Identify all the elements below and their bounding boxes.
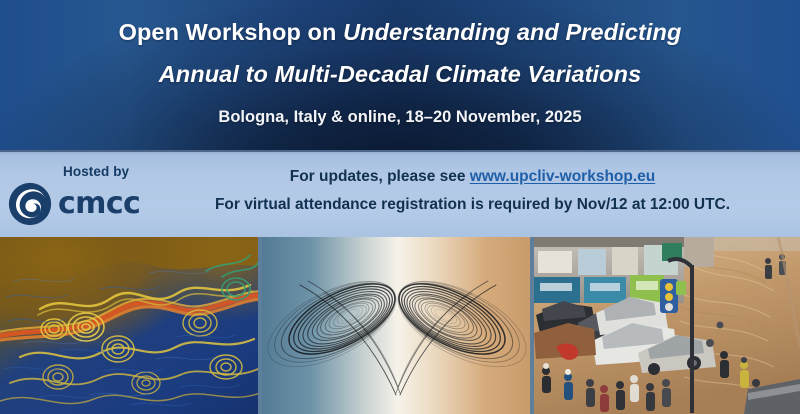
workshop-title-line-2: Annual to Multi-Decadal Climate Variatio… <box>0 62 800 86</box>
ocean-eddies-graphic <box>0 237 262 414</box>
cmcc-logo[interactable]: cmcc <box>8 182 140 226</box>
workshop-location-dates: Bologna, Italy & online, 18–20 November,… <box>0 108 800 126</box>
title-italic-part: Understanding and Predicting <box>343 19 681 45</box>
banner-header: Open Workshop on Understanding and Predi… <box>0 0 800 150</box>
ocean-eddies-image <box>0 237 262 414</box>
info-text-block: For updates, please see www.upcliv-works… <box>150 164 795 215</box>
cmcc-wordmark: cmcc <box>58 189 140 219</box>
updates-prefix-text: For updates, please see <box>290 168 470 185</box>
hosted-by-label: Hosted by <box>63 164 129 179</box>
title-plain-part: Open Workshop on <box>119 19 344 45</box>
registration-deadline-line: For virtual attendance registration is r… <box>150 195 795 215</box>
header-text-block: Open Workshop on Understanding and Predi… <box>0 0 800 126</box>
info-band: Hosted by cmcc For updates, please see w… <box>0 150 800 237</box>
workshop-website-link[interactable]: www.upcliv-workshop.eu <box>470 168 655 185</box>
lorenz-attractor-graphic <box>262 237 534 414</box>
workshop-title-line-1: Open Workshop on Understanding and Predi… <box>0 20 800 44</box>
workshop-announcement-banner: Open Workshop on Understanding and Predi… <box>0 0 800 414</box>
urban-flood-graphic <box>534 237 800 414</box>
urban-flood-image <box>534 237 800 414</box>
image-strip <box>0 237 800 414</box>
lorenz-attractor-image <box>262 237 534 414</box>
updates-line: For updates, please see www.upcliv-works… <box>150 167 795 187</box>
cmcc-wave-spiral-icon <box>8 182 52 226</box>
band-divider <box>0 150 800 152</box>
